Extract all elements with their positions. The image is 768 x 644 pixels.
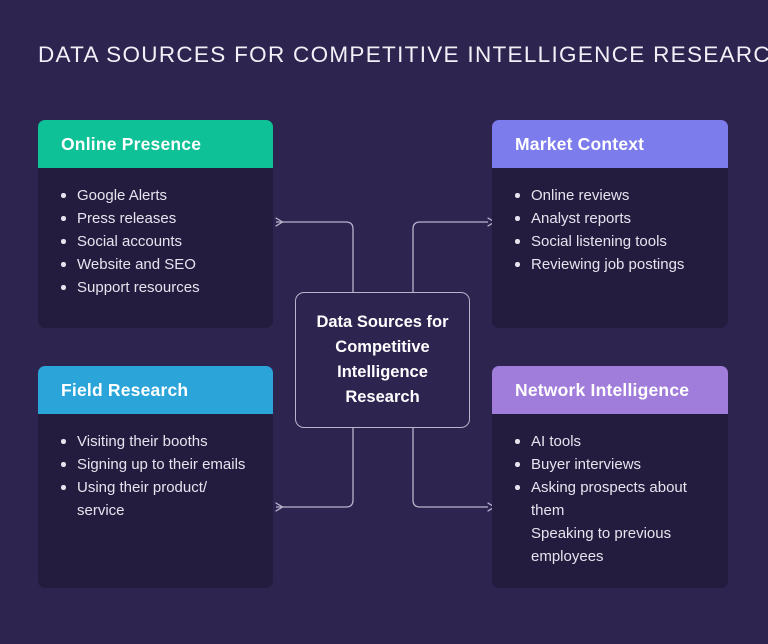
list-item: Visiting their booths [74, 430, 255, 453]
card-network-intelligence[interactable]: Network Intelligence AI tools Buyer inte… [492, 366, 728, 588]
list-item: Social listening tools [528, 230, 710, 253]
list-item: Google Alerts [74, 184, 255, 207]
center-node[interactable]: Data Sources for Competitive Intelligenc… [295, 292, 470, 428]
list-item: Signing up to their emails [74, 453, 255, 476]
list-item: Analyst reports [528, 207, 710, 230]
page-title: DATA SOURCES FOR COMPETITIVE INTELLIGENC… [38, 42, 768, 68]
connector-center-to-network-intelligence [413, 428, 488, 507]
card-list-market-context: Online reviews Analyst reports Social li… [528, 184, 710, 276]
list-item: Press releases [74, 207, 255, 230]
card-body-online-presence: Google Alerts Press releases Social acco… [38, 168, 273, 309]
diagram-canvas: DATA SOURCES FOR COMPETITIVE INTELLIGENC… [0, 0, 768, 644]
list-item: Speaking to previous employees [528, 522, 710, 568]
list-item: Website and SEO [74, 253, 255, 276]
list-item: AI tools [528, 430, 710, 453]
card-body-field-research: Visiting their booths Signing up to thei… [38, 414, 273, 532]
card-header-market-context: Market Context [492, 120, 728, 168]
list-item: Using their product/ service [74, 476, 255, 522]
card-field-research[interactable]: Field Research Visiting their booths Sig… [38, 366, 273, 588]
connector-center-to-field-research [276, 428, 353, 507]
card-body-network-intelligence: AI tools Buyer interviews Asking prospec… [492, 414, 728, 578]
card-list-network-intelligence: AI tools Buyer interviews Asking prospec… [528, 430, 710, 568]
list-item: Social accounts [74, 230, 255, 253]
card-title-field-research: Field Research [61, 380, 188, 401]
card-online-presence[interactable]: Online Presence Google Alerts Press rele… [38, 120, 273, 328]
card-title-network-intelligence: Network Intelligence [515, 380, 689, 401]
list-item: Asking prospects about them [528, 476, 710, 522]
list-item: Support resources [74, 276, 255, 299]
center-node-label: Data Sources for Competitive Intelligenc… [296, 310, 469, 410]
connector-center-to-market-context [413, 222, 488, 292]
list-item: Buyer interviews [528, 453, 710, 476]
list-item: Online reviews [528, 184, 710, 207]
card-title-market-context: Market Context [515, 134, 644, 155]
card-title-online-presence: Online Presence [61, 134, 201, 155]
card-market-context[interactable]: Market Context Online reviews Analyst re… [492, 120, 728, 328]
card-list-online-presence: Google Alerts Press releases Social acco… [74, 184, 255, 299]
connector-center-to-online-presence [276, 222, 353, 292]
card-header-network-intelligence: Network Intelligence [492, 366, 728, 414]
card-list-field-research: Visiting their booths Signing up to thei… [74, 430, 255, 522]
list-item: Reviewing job postings [528, 253, 710, 276]
card-body-market-context: Online reviews Analyst reports Social li… [492, 168, 728, 286]
card-header-online-presence: Online Presence [38, 120, 273, 168]
card-header-field-research: Field Research [38, 366, 273, 414]
